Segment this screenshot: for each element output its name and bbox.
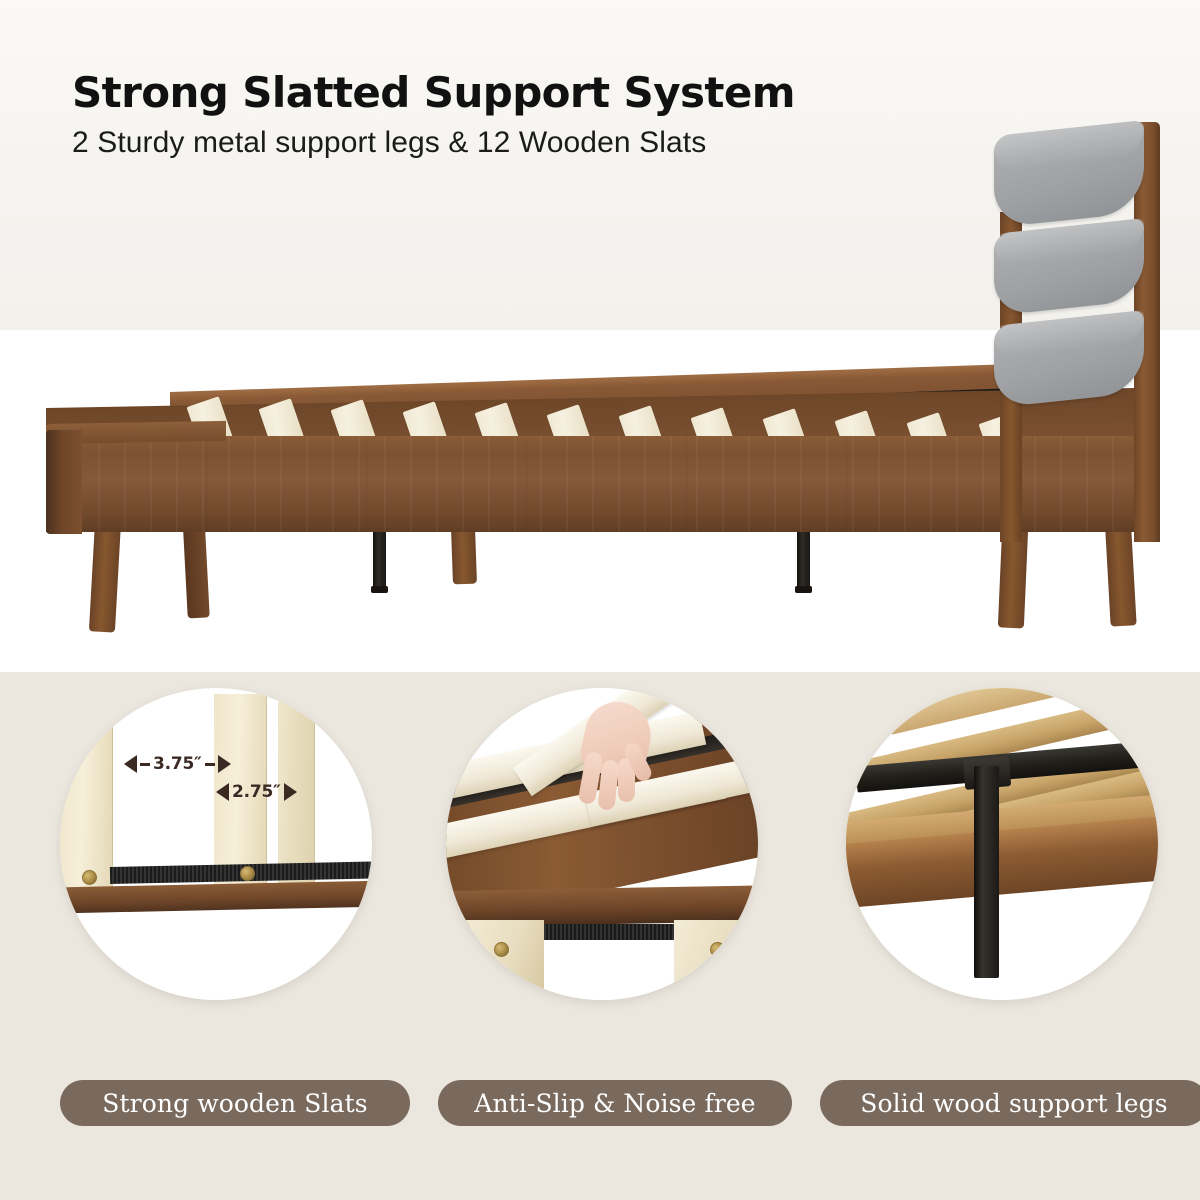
arrow-right-icon — [218, 755, 231, 773]
anti-slip-strip — [542, 924, 682, 940]
detail-slat-end-right — [674, 920, 758, 998]
page-subtitle: 2 Sturdy metal support legs & 12 Wooden … — [72, 128, 795, 158]
feature-circle-support-leg — [846, 688, 1158, 1000]
arrow-left-icon — [216, 783, 229, 801]
detail-slat-left — [60, 704, 113, 890]
screw-icon — [710, 942, 725, 957]
dimension-gap-label: 3.75″ — [124, 754, 231, 774]
screw-icon — [82, 870, 97, 885]
arrow-left-icon — [124, 755, 137, 773]
features-section: 3.75″ 2.75″ — [0, 672, 1200, 1200]
dimension-width-label: 2.75″ — [216, 782, 297, 802]
feature-circles: 3.75″ 2.75″ — [0, 672, 1200, 1012]
wood-leg-back-right — [998, 527, 1028, 628]
metal-support-leg-2 — [797, 528, 810, 590]
detail-slat-end-left — [460, 920, 544, 998]
bed-side-rail — [46, 436, 1134, 532]
hand-icon — [568, 702, 652, 812]
detail-side-rail — [60, 880, 372, 913]
headboard-panel-3 — [994, 310, 1144, 408]
bed-footboard-cap — [46, 430, 82, 534]
badge-anti-slip-noise-free[interactable]: Anti-Slip & Noise free — [438, 1080, 792, 1126]
infographic-page: Strong Slatted Support System 2 Sturdy m… — [0, 0, 1200, 1200]
headboard — [988, 122, 1160, 542]
feature-circle-slat-dimensions: 3.75″ 2.75″ — [60, 688, 372, 1000]
badge-solid-wood-support-legs[interactable]: Solid wood support legs — [820, 1080, 1200, 1126]
page-title: Strong Slatted Support System — [72, 72, 795, 114]
wood-leg-front-right — [1105, 529, 1136, 626]
metal-support-leg-1 — [373, 528, 386, 590]
screw-icon — [240, 866, 255, 881]
screw-icon — [494, 942, 509, 957]
wood-leg-center — [451, 528, 477, 585]
metal-support-foot-1 — [371, 586, 388, 593]
headboard-panel-2 — [994, 218, 1144, 316]
headboard-panel-1 — [994, 120, 1144, 228]
badge-strong-wooden-slats[interactable]: Strong wooden Slats — [60, 1080, 410, 1126]
feature-badges: Strong wooden Slats Anti-Slip & Noise fr… — [0, 1080, 1200, 1136]
header-text-block: Strong Slatted Support System 2 Sturdy m… — [72, 72, 795, 158]
metal-support-foot-2 — [795, 586, 812, 593]
arrow-right-icon — [284, 783, 297, 801]
metal-support-post — [974, 766, 999, 978]
feature-circle-anti-slip — [446, 688, 758, 1000]
